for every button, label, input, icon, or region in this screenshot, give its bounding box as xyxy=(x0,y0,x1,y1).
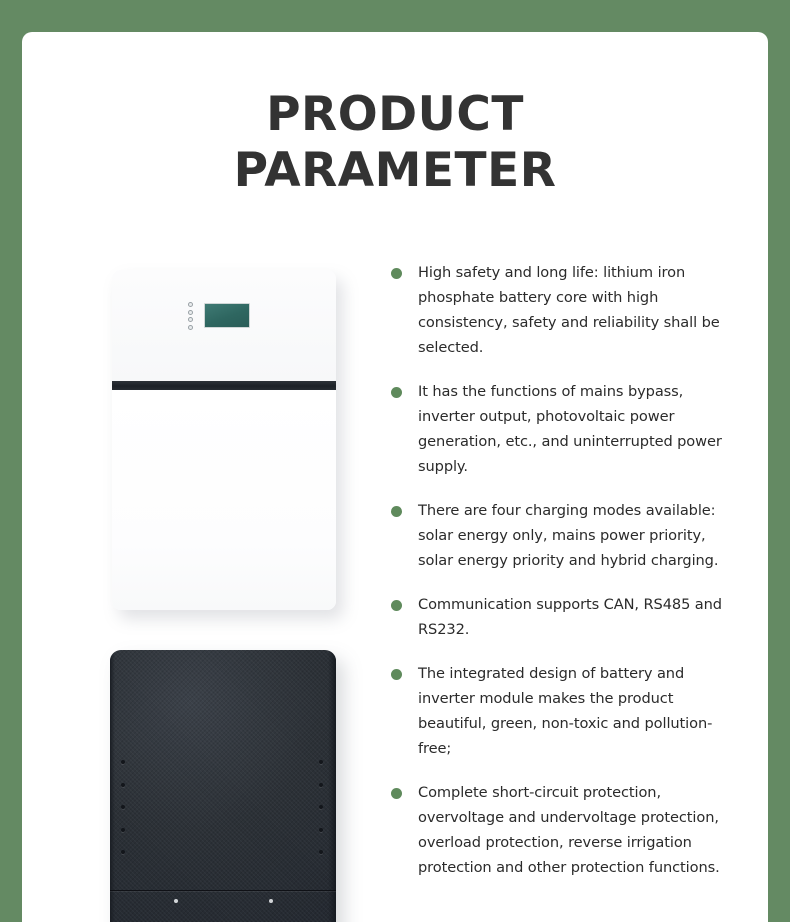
screw-icon xyxy=(269,899,273,903)
vent-hole-icon xyxy=(319,850,323,854)
feature-item-mains-bypass-functions: It has the functions of mains bypass, in… xyxy=(385,379,735,479)
product-image-black-unit xyxy=(110,650,336,922)
page-title-line-1: PRODUCT xyxy=(22,87,768,143)
bullet-dot-icon xyxy=(391,268,402,279)
feature-item-protection: Complete short-circuit protection, overv… xyxy=(385,780,735,880)
vent-hole-icon xyxy=(121,805,125,809)
screw-icon xyxy=(174,899,178,903)
vent-hole-icon xyxy=(319,783,323,787)
vent-hole-icon xyxy=(121,783,125,787)
bullet-dot-icon xyxy=(391,387,402,398)
status-led-icon xyxy=(188,302,193,307)
bullet-dot-icon xyxy=(391,788,402,799)
black-unit-texture xyxy=(110,650,336,922)
vent-hole-icon xyxy=(121,828,125,832)
feature-text: The integrated design of battery and inv… xyxy=(418,665,712,757)
black-unit-seam-line xyxy=(110,890,336,891)
feature-item-charging-modes: There are four charging modes available:… xyxy=(385,498,735,573)
feature-text: High safety and long life: lithium iron … xyxy=(418,264,720,356)
lcd-display-screen xyxy=(204,303,250,328)
status-led-group xyxy=(188,302,197,330)
feature-list: High safety and long life: lithium iron … xyxy=(385,260,735,899)
status-led-icon xyxy=(188,317,193,322)
bullet-dot-icon xyxy=(391,669,402,680)
feature-item-safety-long-life: High safety and long life: lithium iron … xyxy=(385,260,735,360)
status-led-icon xyxy=(188,310,193,315)
white-unit-dark-band xyxy=(112,381,336,390)
feature-item-integrated-design: The integrated design of battery and inv… xyxy=(385,661,735,761)
product-image-column xyxy=(88,270,358,922)
status-led-icon xyxy=(188,325,193,330)
black-unit-left-edge xyxy=(110,650,115,922)
vent-hole-icon xyxy=(319,828,323,832)
white-unit-lower-panel xyxy=(112,390,336,610)
page-title: PRODUCT PARAMETER xyxy=(22,87,768,199)
bullet-dot-icon xyxy=(391,600,402,611)
feature-text: There are four charging modes available:… xyxy=(418,502,718,569)
page-title-line-2: PARAMETER xyxy=(22,143,768,199)
vent-group-left xyxy=(121,760,125,854)
vent-hole-icon xyxy=(121,760,125,764)
black-unit-right-edge xyxy=(328,650,336,922)
vent-hole-icon xyxy=(319,760,323,764)
feature-text: It has the functions of mains bypass, in… xyxy=(418,383,722,475)
vent-group-right xyxy=(319,760,323,854)
bullet-dot-icon xyxy=(391,506,402,517)
vent-hole-icon xyxy=(319,805,323,809)
product-image-white-unit xyxy=(112,270,336,610)
feature-text: Complete short-circuit protection, overv… xyxy=(418,784,720,876)
vent-hole-icon xyxy=(121,850,125,854)
product-parameter-card: PRODUCT PARAMETER xyxy=(22,32,768,922)
feature-item-communication: Communication supports CAN, RS485 and RS… xyxy=(385,592,735,642)
feature-text: Communication supports CAN, RS485 and RS… xyxy=(418,596,722,638)
